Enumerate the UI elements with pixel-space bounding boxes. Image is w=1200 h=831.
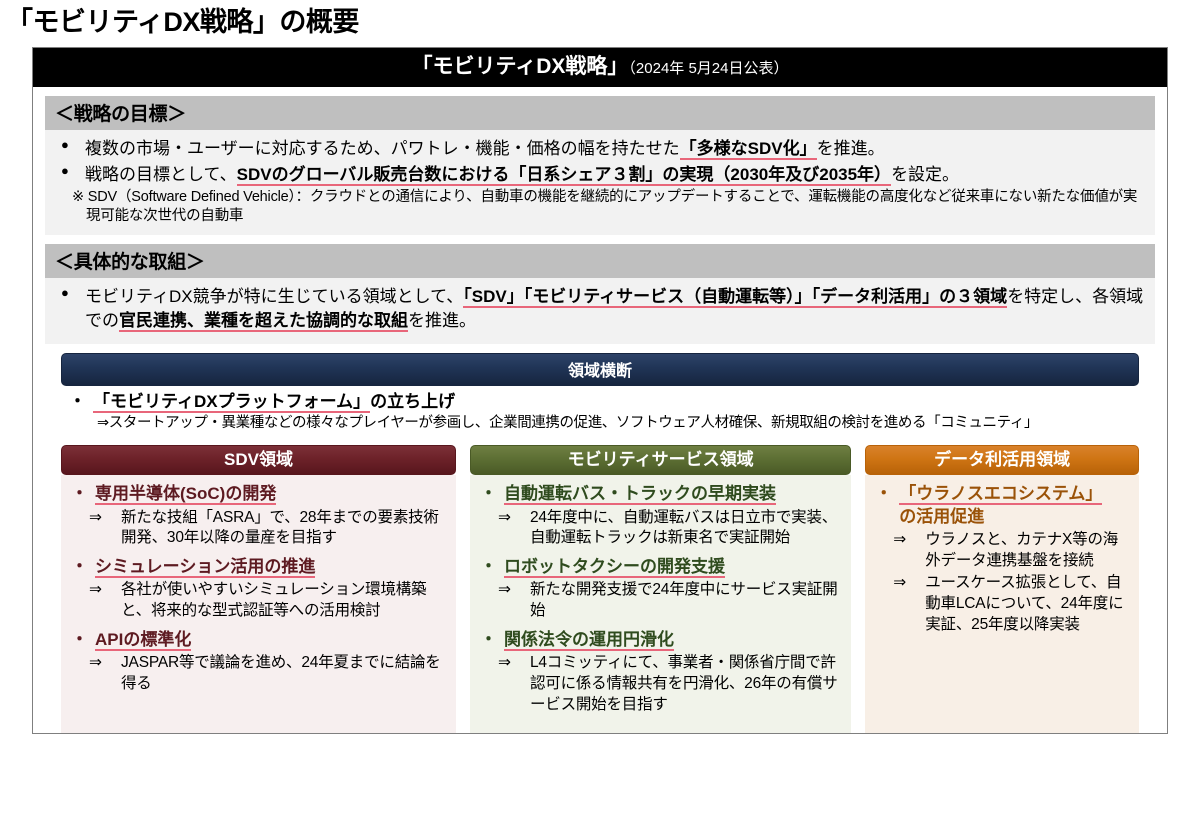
data-item-1-title: 「ウラノスエコシステム」の活用促進 xyxy=(869,483,1133,527)
mobility-item-2-title-text: ロボットタクシーの開発支援 xyxy=(504,557,725,578)
sdv-item-3-detail: JASPAR等で議論を進め、24年夏までに結論を得る xyxy=(65,653,450,695)
cross-domain-body: 「モビリティDXプラットフォーム」の立ち上げ ⇒スタートアップ・異業種などの様々… xyxy=(61,386,1139,438)
cross-domain-title-emphasis: 「モビリティDXプラットフォーム」 xyxy=(93,392,370,413)
mobility-item-3: 関係法令の運用円滑化 L4コミッティにて、事業者・関係省庁間で許認可に係る情報共… xyxy=(474,629,845,716)
section-goals-header: ＜戦略の目標＞ xyxy=(45,96,1155,130)
data-item-1-detail-1: ウラノスと、カテナX等の海外データ連携基盤を接続 xyxy=(869,530,1133,572)
strategy-banner: 「モビリティDX戦略」（2024年 5月24日公表） xyxy=(33,48,1167,87)
goals-bullet-1-pre: 複数の市場・ユーザーに対応するため、パワトレ・機能・価格の幅を持たせた xyxy=(85,139,680,158)
mobility-item-3-title: 関係法令の運用円滑化 xyxy=(474,629,845,651)
column-mobility-service: モビリティサービス領域 自動運転バス・トラックの早期実装 24年度中に、自動運転… xyxy=(470,445,851,733)
mobility-item-1: 自動運転バス・トラックの早期実装 24年度中に、自動運転バスは日立市で実装、自動… xyxy=(474,483,845,549)
actions-bullet-emphasis-2: 官民連携、業種を超えた協調的な取組 xyxy=(119,311,408,332)
cross-domain-title: 「モビリティDXプラットフォーム」の立ち上げ xyxy=(67,391,1139,413)
goals-bullet-2: 戦略の目標として、SDVのグローバル販売台数における「日系シェア３割」の実現（2… xyxy=(55,163,1145,187)
actions-bullet-list: モビリティDX競争が特に生じている領域として、「SDV」「モビリティサービス（自… xyxy=(55,285,1145,333)
sdv-item-1: 専用半導体(SoC)の開発 新たな技組「ASRA」で、28年までの要素技術開発、… xyxy=(65,483,450,549)
column-sdv: SDV領域 専用半導体(SoC)の開発 新たな技組「ASRA」で、28年までの要… xyxy=(61,445,456,733)
mobility-item-1-title: 自動運転バス・トラックの早期実装 xyxy=(474,483,845,505)
actions-bullet-pre: モビリティDX競争が特に生じている領域として、 xyxy=(85,287,463,306)
goals-bullet-1-emphasis: 「多様なSDV化」 xyxy=(680,139,817,160)
data-item-1: 「ウラノスエコシステム」の活用促進 ウラノスと、カテナX等の海外データ連携基盤を… xyxy=(869,483,1133,636)
section-goals-body: 複数の市場・ユーザーに対応するため、パワトレ・機能・価格の幅を持たせた「多様なS… xyxy=(45,130,1155,235)
sdv-item-3: APIの標準化 JASPAR等で議論を進め、24年夏までに結論を得る xyxy=(65,629,450,695)
mobility-item-3-detail: L4コミッティにて、事業者・関係省庁間で許認可に係る情報共有を円滑化、26年の有… xyxy=(474,653,845,716)
main-panel: 「モビリティDX戦略」（2024年 5月24日公表） ＜戦略の目標＞ 複数の市場… xyxy=(32,47,1168,734)
actions-bullet-1: モビリティDX競争が特に生じている領域として、「SDV」「モビリティサービス（自… xyxy=(55,285,1145,333)
column-data-utilization-header: データ利活用領域 xyxy=(865,445,1139,475)
sdv-item-2-title: シミュレーション活用の推進 xyxy=(65,556,450,578)
actions-bullet-emphasis-1: 「SDV」「モビリティサービス（自動運転等）」「データ利活用」の３領域 xyxy=(463,287,1007,308)
column-data-utilization-body: 「ウラノスエコシステム」の活用促進 ウラノスと、カテナX等の海外データ連携基盤を… xyxy=(865,475,1139,733)
sdv-item-3-title: APIの標準化 xyxy=(65,629,450,651)
goals-bullet-2-emphasis: SDVのグローバル販売台数における「日系シェア３割」の実現（2030年及び203… xyxy=(237,165,891,186)
mobility-item-2-detail: 新たな開発支援で24年度中にサービス実証開始 xyxy=(474,580,845,622)
goals-bullet-2-pre: 戦略の目標として、 xyxy=(85,165,237,184)
goals-bullet-1-post: を推進。 xyxy=(817,139,885,158)
mobility-item-2: ロボットタクシーの開発支援 新たな開発支援で24年度中にサービス実証開始 xyxy=(474,556,845,622)
data-item-1-title-rest: の活用促進 xyxy=(899,507,984,526)
column-sdv-header: SDV領域 xyxy=(61,445,456,475)
goals-bullet-1: 複数の市場・ユーザーに対応するため、パワトレ・機能・価格の幅を持たせた「多様なS… xyxy=(55,137,1145,161)
sdv-item-1-detail: 新たな技組「ASRA」で、28年までの要素技術開発、30年以降の量産を目指す xyxy=(65,508,450,550)
column-data-utilization: データ利活用領域 「ウラノスエコシステム」の活用促進 ウラノスと、カテナX等の海… xyxy=(865,445,1139,733)
section-goals: ＜戦略の目標＞ 複数の市場・ユーザーに対応するため、パワトレ・機能・価格の幅を持… xyxy=(33,87,1167,235)
cross-domain-description: ⇒スタートアップ・異業種などの様々なプレイヤーが参画し、企業間連携の促進、ソフト… xyxy=(67,414,1139,434)
column-mobility-service-header: モビリティサービス領域 xyxy=(470,445,851,475)
column-mobility-service-body: 自動運転バス・トラックの早期実装 24年度中に、自動運転バスは日立市で実装、自動… xyxy=(470,475,851,733)
column-sdv-body: 専用半導体(SoC)の開発 新たな技組「ASRA」で、28年までの要素技術開発、… xyxy=(61,475,456,733)
cross-domain-bar: 領域横断 xyxy=(61,353,1139,386)
sdv-definition-note: ※ SDV（Software Defined Vehicle）：クラウドとの通信… xyxy=(55,188,1145,227)
section-actions-body: モビリティDX競争が特に生じている領域として、「SDV」「モビリティサービス（自… xyxy=(45,278,1155,343)
goals-bullet-2-post: を設定。 xyxy=(891,165,959,184)
data-item-1-detail-2: ユースケース拡張として、自動車LCAについて、24年度に実証、25年度以降実装 xyxy=(869,573,1133,636)
sdv-item-3-title-text: APIの標準化 xyxy=(95,630,191,651)
sdv-item-2: シミュレーション活用の推進 各社が使いやすいシミュレーション環境構築と、将来的な… xyxy=(65,556,450,622)
sdv-item-2-detail: 各社が使いやすいシミュレーション環境構築と、将来的な型式認証等への活用検討 xyxy=(65,580,450,622)
slide-root: 「モビリティDX戦略」の概要 「モビリティDX戦略」（2024年 5月24日公表… xyxy=(0,0,1200,831)
section-actions: ＜具体的な取組＞ モビリティDX競争が特に生じている領域として、「SDV」「モビ… xyxy=(33,235,1167,343)
section-actions-header: ＜具体的な取組＞ xyxy=(45,244,1155,278)
data-item-1-title-text: 「ウラノスエコシステム」 xyxy=(899,484,1102,505)
cross-domain-title-rest: の立ち上げ xyxy=(370,392,455,411)
sdv-item-1-title-text: 専用半導体(SoC)の開発 xyxy=(95,484,276,505)
mobility-item-3-title-text: 関係法令の運用円滑化 xyxy=(504,630,674,651)
mobility-item-1-title-text: 自動運転バス・トラックの早期実装 xyxy=(504,484,776,505)
banner-title: 「モビリティDX戦略」 xyxy=(412,55,629,78)
actions-bullet-post: を推進。 xyxy=(408,311,476,330)
mobility-item-2-title: ロボットタクシーの開発支援 xyxy=(474,556,845,578)
page-title: 「モビリティDX戦略」の概要 xyxy=(0,0,1200,38)
sdv-item-1-title: 専用半導体(SoC)の開発 xyxy=(65,483,450,505)
sdv-item-2-title-text: シミュレーション活用の推進 xyxy=(95,557,315,578)
cross-domain-section: 領域横断 「モビリティDXプラットフォーム」の立ち上げ ⇒スタートアップ・異業種… xyxy=(61,353,1139,438)
domain-columns: SDV領域 専用半導体(SoC)の開発 新たな技組「ASRA」で、28年までの要… xyxy=(61,445,1139,733)
mobility-item-1-detail: 24年度中に、自動運転バスは日立市で実装、自動運転トラックは新東名で実証開始 xyxy=(474,508,845,550)
goals-bullet-list: 複数の市場・ユーザーに対応するため、パワトレ・機能・価格の幅を持たせた「多様なS… xyxy=(55,137,1145,186)
banner-date: （2024年 5月24日公表） xyxy=(628,60,788,77)
